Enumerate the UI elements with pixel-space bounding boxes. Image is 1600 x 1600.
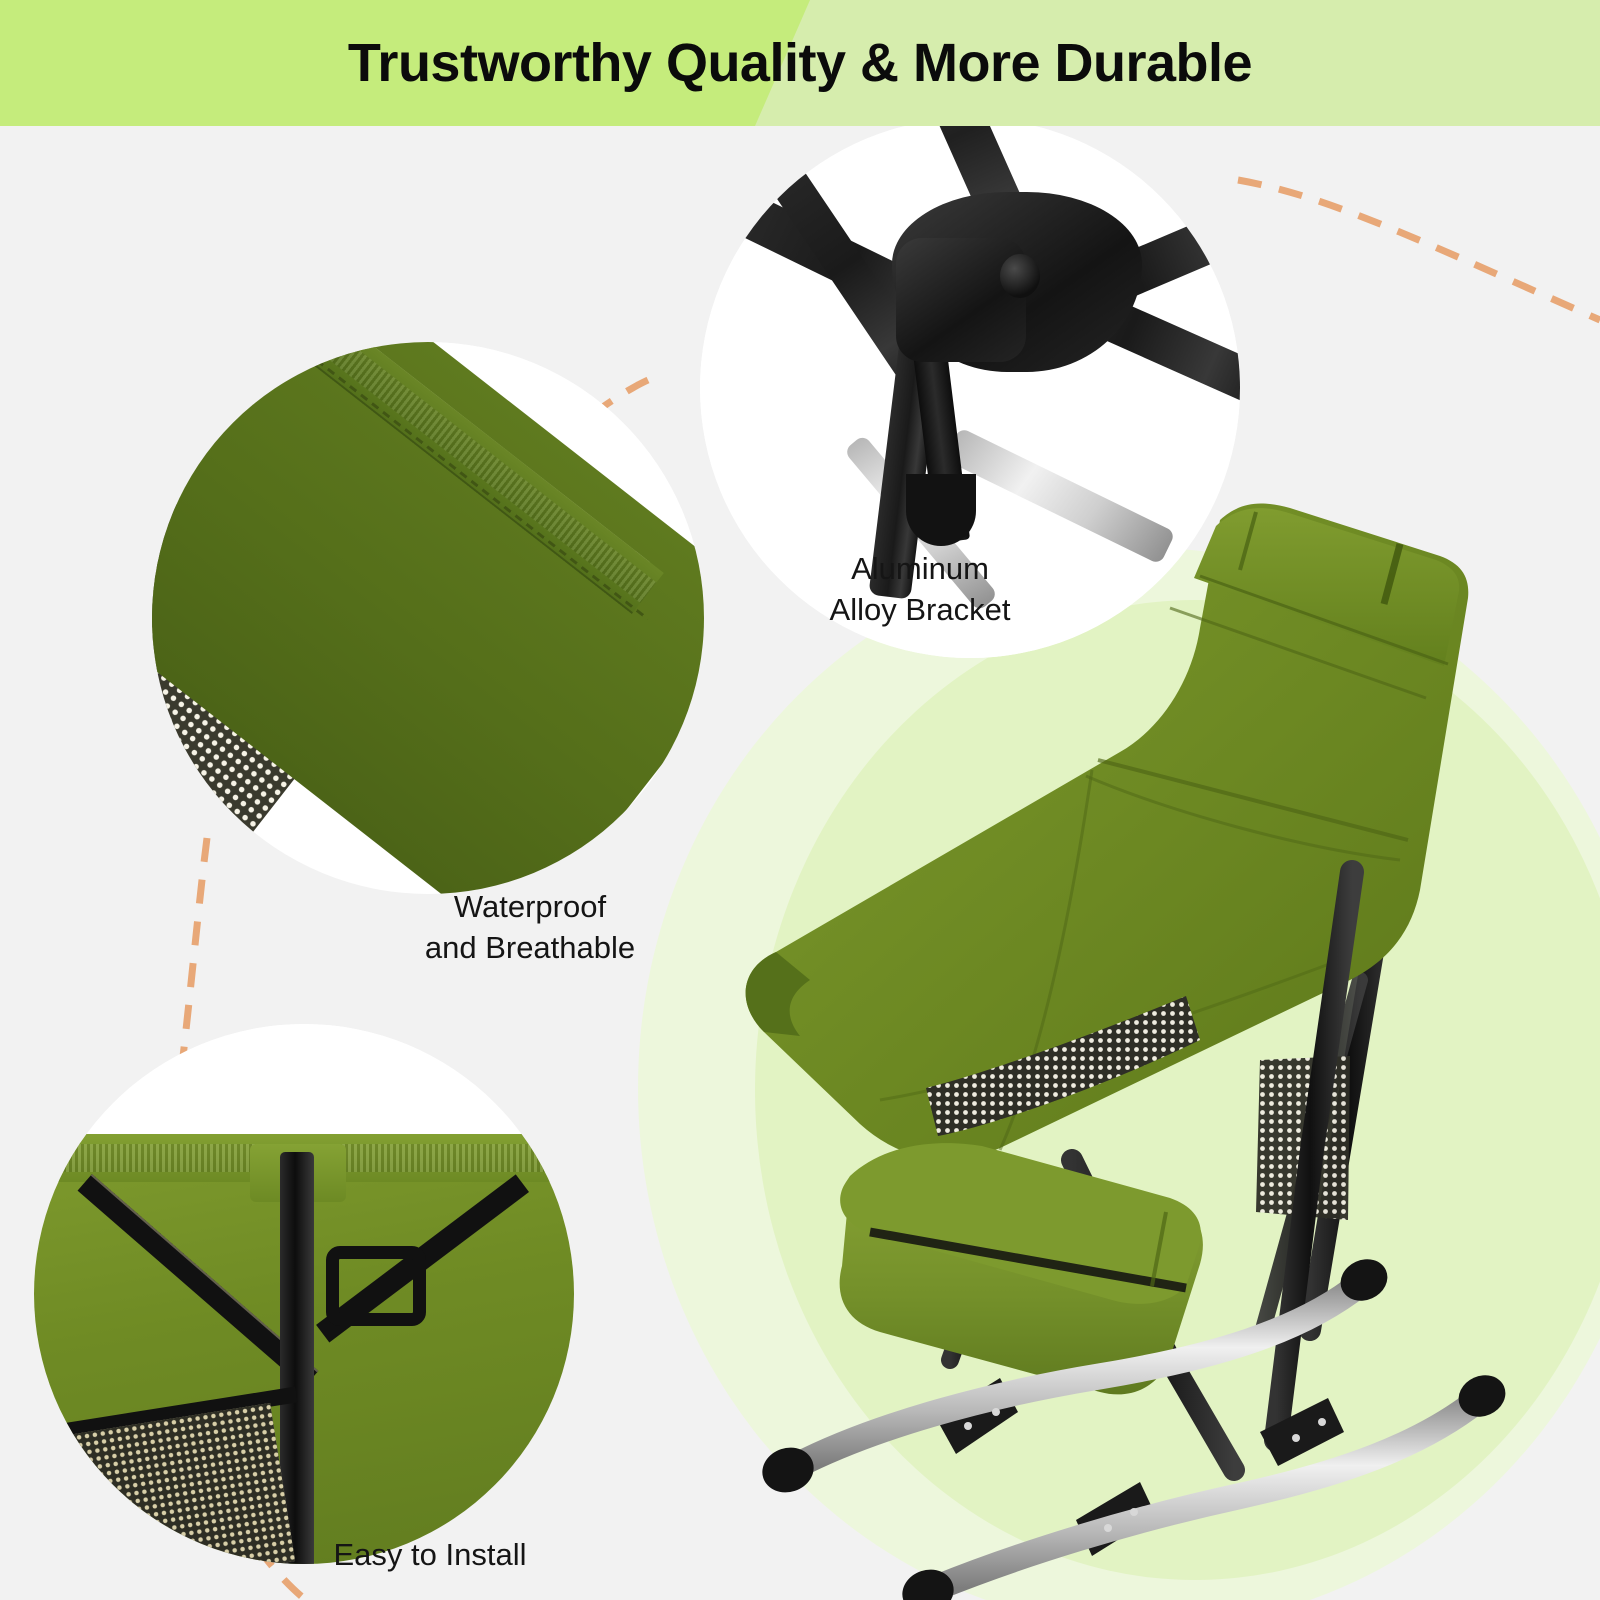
alloy-hub-collar <box>896 238 1026 362</box>
page-title: Trustworthy Quality & More Durable <box>0 0 1600 126</box>
fabric-closeup-image <box>152 342 704 894</box>
callout-circle-install <box>34 1024 574 1564</box>
aluminum-shaft <box>944 427 1175 565</box>
webbing-strap-loop <box>906 474 976 546</box>
caption-waterproof: Waterproof and Breathable <box>360 886 700 968</box>
callout-circle-waterproof <box>152 342 704 894</box>
dashed-arc-bracket-right <box>1238 180 1600 320</box>
caption-bracket: Aluminum Alloy Bracket <box>760 548 1080 630</box>
install-closeup-image <box>34 1024 574 1564</box>
caption-bracket-line2: Alloy Bracket <box>760 589 1080 630</box>
infographic-root: Waterproof and Breathable Aluminum Alloy… <box>0 0 1600 1600</box>
caption-install: Easy to Install <box>250 1534 610 1575</box>
webbing-loop <box>326 1246 426 1326</box>
caption-bracket-line1: Aluminum <box>760 548 1080 589</box>
hub-knob <box>1000 254 1040 298</box>
caption-install-line1: Easy to Install <box>250 1534 610 1575</box>
caption-waterproof-line1: Waterproof <box>360 886 700 927</box>
caption-waterproof-line2: and Breathable <box>360 927 700 968</box>
